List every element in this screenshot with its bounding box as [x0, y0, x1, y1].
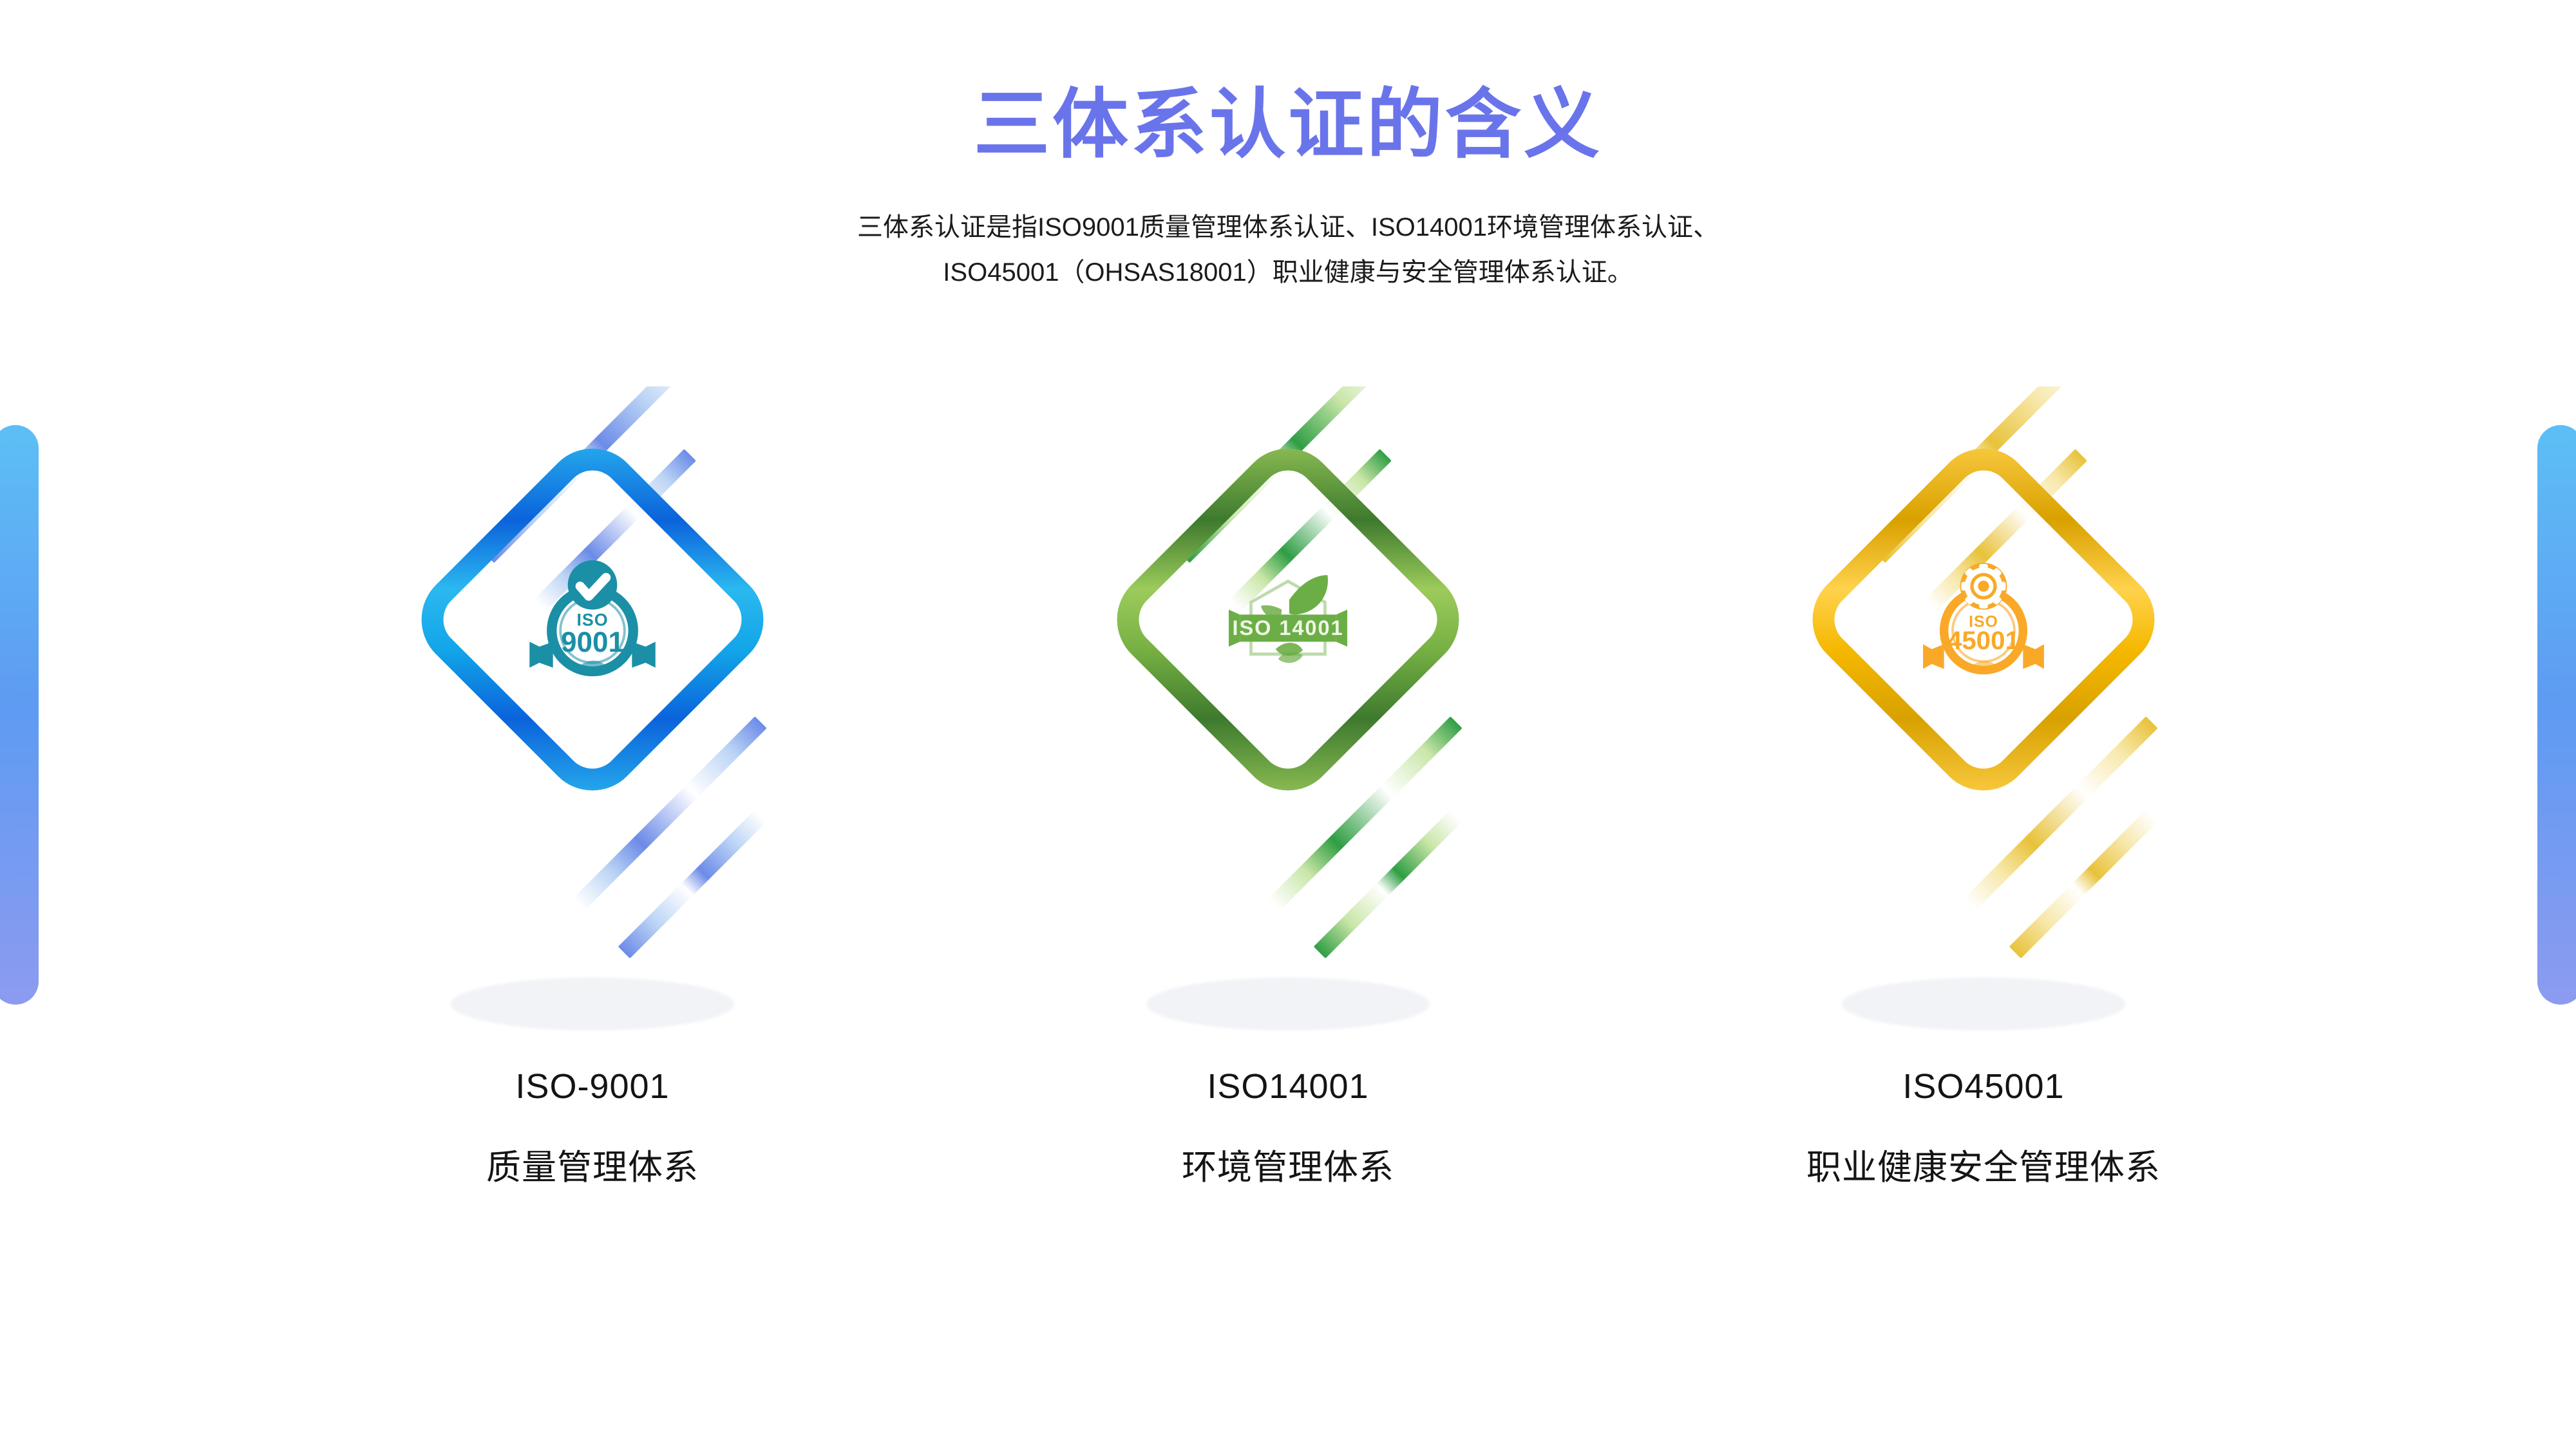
svg-text:45001: 45001: [1947, 626, 2020, 655]
badge-stage: ISO 9001: [348, 386, 837, 1037]
subtitle-line-1: 三体系认证是指ISO9001质量管理体系认证、ISO14001环境管理体系认证、: [0, 205, 2576, 250]
diamond-frame: ISO 45001: [1848, 484, 2119, 755]
card-name: 环境管理体系: [1182, 1139, 1394, 1189]
diamond-frame: ISO 9001: [457, 484, 728, 755]
svg-text:9001: 9001: [561, 627, 624, 658]
iso-emblem: ISO 9001: [518, 545, 667, 694]
card-name: 职业健康安全管理体系: [1806, 1139, 2161, 1189]
diamond-frame: ISO 14001: [1153, 484, 1423, 755]
certification-cards: ISO 9001 ISO-9001 质量管理体系: [0, 386, 2576, 1189]
iso-emblem: ISO 14001: [1214, 545, 1362, 694]
badge-stage: ISO 14001: [1043, 386, 1533, 1037]
leaf-icon: ISO 14001: [1214, 545, 1362, 694]
svg-text:ISO 14001: ISO 14001: [1232, 616, 1343, 639]
page-header: 三体系认证的含义 三体系认证是指ISO9001质量管理体系认证、ISO14001…: [0, 0, 2576, 295]
card-caption: ISO-9001 质量管理体系: [486, 1066, 699, 1189]
certification-card[interactable]: ISO 14001 ISO14001 环境管理体系: [998, 386, 1578, 1189]
card-code: ISO14001: [1182, 1066, 1394, 1106]
card-caption: ISO45001 职业健康安全管理体系: [1806, 1066, 2161, 1189]
iso-emblem: ISO 45001: [1909, 545, 2058, 694]
check-icon: ISO 9001: [518, 545, 667, 694]
page-title: 三体系认证的含义: [0, 84, 2576, 167]
card-caption: ISO14001 环境管理体系: [1182, 1066, 1394, 1189]
gear-icon: ISO 45001: [1909, 545, 2058, 694]
subtitle-line-2: ISO45001（OHSAS18001）职业健康与安全管理体系认证。: [0, 250, 2576, 295]
card-name: 质量管理体系: [486, 1139, 699, 1189]
certification-card[interactable]: ISO 45001 ISO45001 职业健康安全管理体系: [1694, 386, 2273, 1189]
certification-card[interactable]: ISO 9001 ISO-9001 质量管理体系: [303, 386, 882, 1189]
card-code: ISO-9001: [486, 1066, 699, 1106]
badge-stage: ISO 45001: [1739, 386, 2228, 1037]
page-subtitle: 三体系认证是指ISO9001质量管理体系认证、ISO14001环境管理体系认证、…: [0, 205, 2576, 295]
card-code: ISO45001: [1806, 1066, 2161, 1106]
